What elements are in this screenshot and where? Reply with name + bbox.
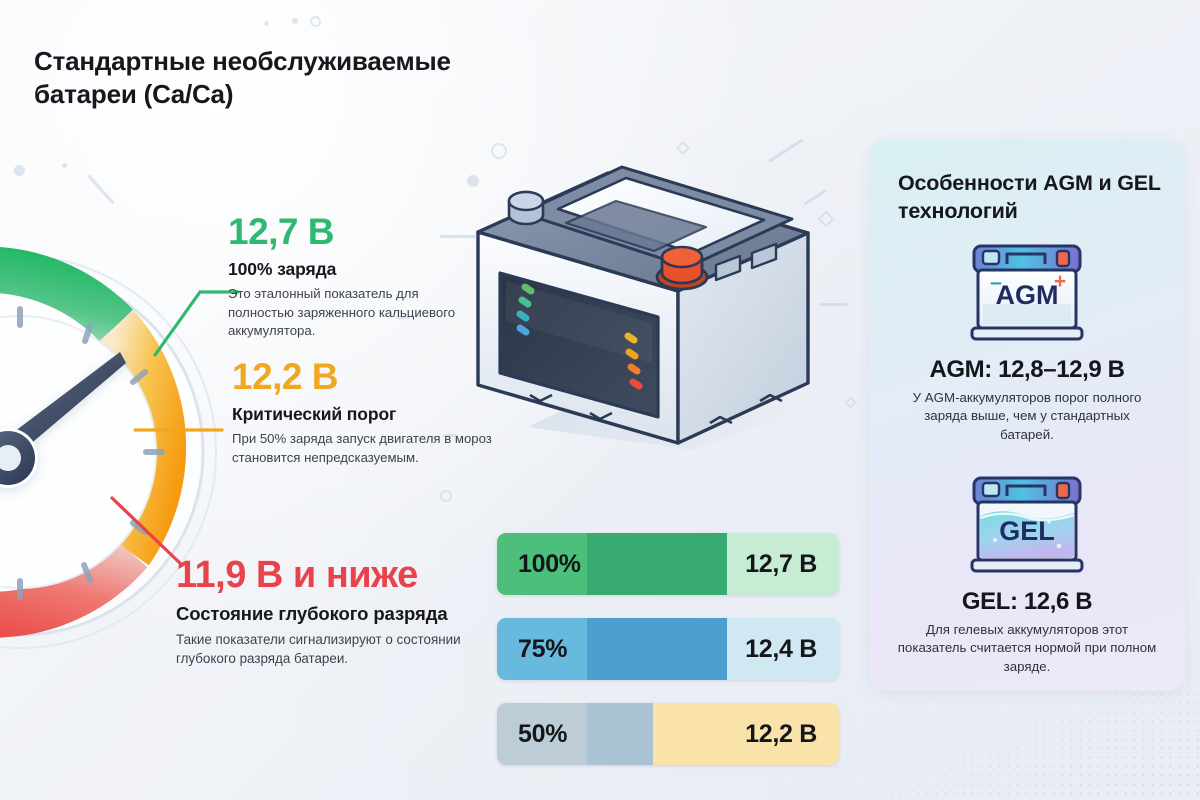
tech-item-gel: GEL GEL: 12,6 В Для гелевых аккумуляторо… [889, 474, 1165, 676]
page-title: Стандартные необслуживаемые батареи (Ca/… [34, 45, 504, 112]
tech-description: Для гелевых аккумуляторов этот показател… [889, 621, 1165, 676]
callout-deep-discharge: 11,9 В и ниже Состояние глубокого разряд… [176, 556, 486, 668]
callout-subtitle: Состояние глубокого разряда [176, 603, 486, 625]
card-heading: Особенности AGM и GEL технологий [889, 170, 1165, 226]
infographic-canvas: Стандартные необслуживаемые батареи (Ca/… [0, 0, 1200, 800]
bar-voltage-label: 12,7 В [745, 550, 839, 579]
gel-icon-text: GEL [999, 516, 1055, 546]
tech-description: У AGM-аккумуляторов порог полного заряда… [889, 389, 1165, 444]
tech-title: GEL: 12,6 В [889, 588, 1165, 616]
bar-percent-label: 75% [497, 635, 567, 664]
tech-item-agm: AGM – + AGM: 12,8–12,9 В У AGM-аккумулят… [889, 242, 1165, 444]
bar-percent-label: 50% [497, 720, 567, 749]
callout-value: 11,9 В и ниже [176, 556, 486, 596]
tech-title: AGM: 12,8–12,9 В [889, 356, 1165, 384]
charge-voltage-bar-chart: 100% 12,7 В 75% 12,4 В 50% 12,2 В [497, 533, 839, 788]
bar-row-100: 100% 12,7 В [497, 533, 839, 595]
bar-row-50: 50% 12,2 В [497, 703, 839, 765]
minus-sign-icon: – [990, 271, 1002, 294]
bar-percent-label: 100% [497, 550, 581, 579]
car-battery-illustration [430, 105, 850, 455]
bar-row-75: 75% 12,4 В [497, 618, 839, 680]
agm-gel-card: Особенности AGM и GEL технологий [869, 140, 1185, 691]
gel-battery-icon: GEL [889, 474, 1165, 576]
callout-description: Такие показатели сигнализируют о состоян… [176, 630, 486, 668]
agm-battery-icon: AGM – + [889, 242, 1165, 344]
bar-voltage-label: 12,4 В [745, 635, 839, 664]
plus-sign-icon: + [1054, 270, 1066, 293]
agm-icon-text: AGM [996, 280, 1059, 310]
bar-voltage-label: 12,2 В [745, 720, 839, 749]
